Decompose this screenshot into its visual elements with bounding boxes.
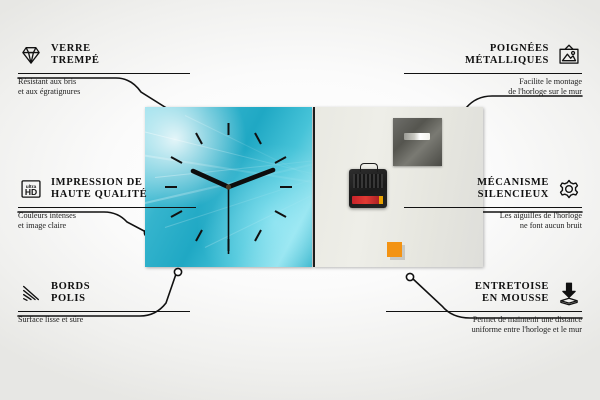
feature-divider <box>404 73 582 74</box>
feature-title: BORDS POLIS <box>51 281 90 306</box>
feature-subtitle: Résistant aux bris et aux égratignures <box>18 77 190 97</box>
feature-header: BORDS POLIS <box>18 278 190 308</box>
feature-bords-polis: BORDS POLIS Surface lisse et sûre <box>18 278 190 325</box>
feature-title: POIGNÉES MÉTALLIQUES <box>465 43 549 68</box>
metal-hanger-plate <box>393 118 442 166</box>
marker-2 <box>275 157 286 163</box>
battery <box>352 196 383 204</box>
feature-impression-haute-qualite: ultra HD IMPRESSION DE HAUTE QUALITÉ Cou… <box>18 174 196 231</box>
foam-spacer-icon <box>556 280 582 306</box>
feature-subtitle: Couleurs intenses et image claire <box>18 211 196 231</box>
mechanism-grille <box>353 174 383 188</box>
battery-positive-tip <box>379 196 383 204</box>
diamond-icon <box>18 42 44 68</box>
marker-11 <box>196 133 202 144</box>
feature-mecanisme-silencieux: MÉCANISME SILENCIEUX Les aiguilles de l'… <box>404 174 582 231</box>
picture-hanger-icon <box>556 42 582 68</box>
hd-label: HD <box>25 187 37 197</box>
feature-subtitle: Facilite le montage de l'horloge sur le … <box>404 77 582 97</box>
feature-subtitle: Surface lisse et sûre <box>18 315 190 325</box>
foam-spacer <box>387 242 402 257</box>
marker-1 <box>255 133 261 144</box>
hanger-slot <box>404 133 430 140</box>
feature-header: MÉCANISME SILENCIEUX <box>404 174 582 204</box>
feature-title: MÉCANISME SILENCIEUX <box>477 177 549 202</box>
feature-divider <box>18 73 190 74</box>
feature-divider <box>18 311 190 312</box>
polished-edges-icon <box>18 280 44 306</box>
hour-hand <box>193 171 229 187</box>
ultra-hd-icon: ultra HD <box>18 176 44 202</box>
gear-icon <box>556 176 582 202</box>
clock-mechanism-box <box>349 169 387 208</box>
feature-subtitle: Les aiguilles de l'horloge ne font aucun… <box>404 211 582 231</box>
marker-5 <box>255 230 261 241</box>
minute-hand <box>229 170 274 187</box>
feature-header: ENTRETOISE EN MOUSSE <box>386 278 582 308</box>
infographic-page: VERRE TREMPÉ Résistant aux bris et aux é… <box>0 0 600 400</box>
marker-10 <box>171 157 182 163</box>
feature-divider <box>386 311 582 312</box>
feature-entretoise-en-mousse: ENTRETOISE EN MOUSSE Permet de maintenir… <box>386 278 582 335</box>
feature-title: VERRE TREMPÉ <box>51 43 100 68</box>
feature-verre-trempe: VERRE TREMPÉ Résistant aux bris et aux é… <box>18 40 190 97</box>
feature-divider <box>18 207 196 208</box>
marker-7 <box>196 230 202 241</box>
feature-divider <box>404 207 582 208</box>
feature-header: POIGNÉES MÉTALLIQUES <box>404 40 582 70</box>
marker-4 <box>275 211 286 217</box>
hands-center-cap <box>226 184 231 189</box>
feature-poignees-metalliques: POIGNÉES MÉTALLIQUES Facilite le montage… <box>404 40 582 97</box>
mechanism-handle <box>360 163 378 172</box>
feature-header: ultra HD IMPRESSION DE HAUTE QUALITÉ <box>18 174 196 204</box>
feature-title: IMPRESSION DE HAUTE QUALITÉ <box>51 177 147 202</box>
feature-title: ENTRETOISE EN MOUSSE <box>475 281 549 306</box>
feature-header: VERRE TREMPÉ <box>18 40 190 70</box>
feature-subtitle: Permet de maintenir une distance uniform… <box>386 315 582 335</box>
